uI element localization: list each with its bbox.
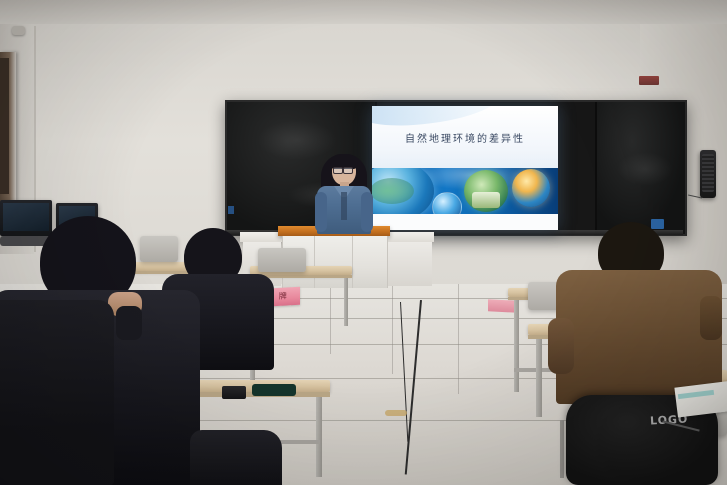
attendee-arm (700, 296, 722, 340)
front-table-right (386, 232, 434, 242)
glasses-icon (343, 167, 353, 174)
classroom-photo: 自然地理环境的差异性 (0, 0, 727, 485)
smoke-detector-icon (12, 26, 25, 35)
door-panel (0, 58, 9, 194)
ceiling (0, 0, 727, 26)
slide-decoration (372, 106, 503, 129)
projection-screen: 自然地理环境的差异性 (372, 106, 558, 230)
floor-marker (385, 410, 407, 416)
mobile-phone[interactable] (222, 386, 246, 399)
speaker-grill-icon (702, 154, 714, 192)
presenter-jacket-opening (341, 192, 347, 220)
attendee-right (556, 222, 724, 402)
attendee-shoulder (190, 430, 282, 485)
paper-stack (674, 380, 727, 417)
blue-marker (228, 206, 234, 214)
chalk-smudge (617, 152, 673, 186)
landscape-photo (472, 192, 500, 208)
slide-image-band (372, 168, 558, 214)
red-sign (639, 76, 659, 85)
front-table-right-panel (388, 242, 432, 286)
attendee-arm (548, 318, 574, 374)
glasses-icon (333, 167, 343, 174)
attendee-forearm (116, 306, 142, 340)
desk-object (252, 384, 296, 396)
presenter-arm-right (361, 192, 373, 232)
attendee-torso (0, 300, 114, 485)
ocean-map-icon (512, 169, 550, 207)
presenter-arm-left (315, 192, 327, 232)
slide-title: 自然地理环境的差异性 (372, 130, 558, 145)
water-drop-icon (432, 192, 462, 214)
slide-header-area: 自然地理环境的差异性 (372, 106, 558, 168)
attendee-far-left (0, 300, 94, 485)
slide-footer-area (372, 214, 558, 230)
globe-landmass (372, 178, 414, 204)
earth-globe-icon (372, 168, 434, 214)
presenter (313, 152, 375, 234)
wall-speaker (700, 150, 716, 198)
